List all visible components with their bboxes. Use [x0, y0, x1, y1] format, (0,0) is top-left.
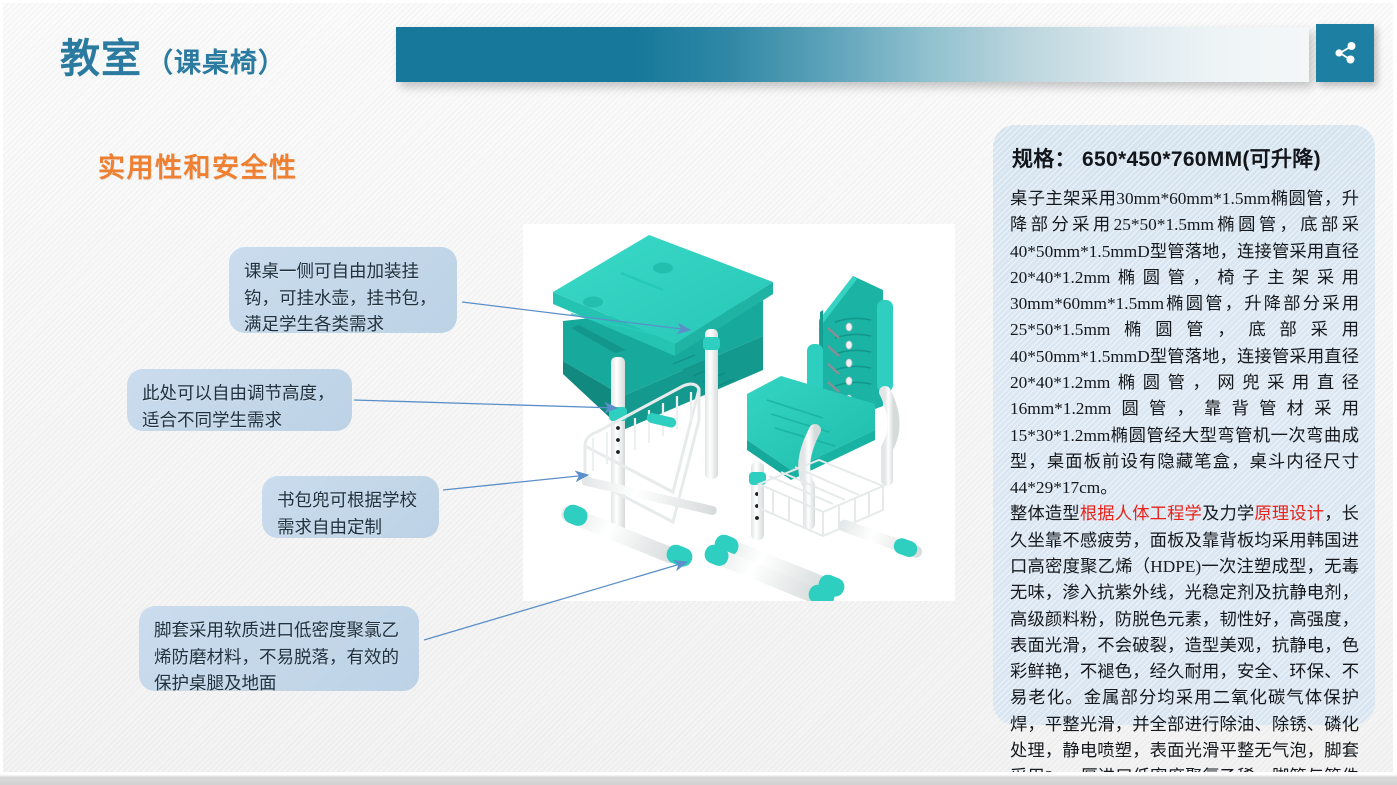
share-network-icon [1330, 38, 1360, 68]
callout-hook: 课桌一侧可自由加装挂钩，可挂水壶，挂书包，满足学生各类需求 [229, 247, 457, 333]
page-title-sub: （课桌椅） [146, 48, 286, 78]
spec-p2-lead: 整体造型 [1010, 504, 1080, 523]
slide-canvas: 教室（课桌椅） 实用性和安全性 [0, 0, 1397, 785]
desk-and-chair-illustration [523, 224, 955, 601]
slide-edge-bottom [0, 772, 1397, 785]
page-title: 教室（课桌椅） [60, 26, 286, 84]
spec-panel: 规格： 650*450*760MM(可升降) 桌子主架采用30mm*60mm*1… [993, 125, 1375, 725]
callout-foot: 脚套采用软质进口低密度聚氯乙烯防磨材料，不易脱落，有效的保护桌腿及地面 [139, 606, 419, 691]
spec-p2-highlight-1: 根据人体工程学 [1080, 504, 1202, 523]
spec-title: 规格： 650*450*760MM(可升降) [1012, 143, 1359, 173]
spec-p2-highlight-2: 原理设计 [1254, 504, 1324, 523]
spec-p2-mid: 及力学 [1202, 504, 1254, 523]
spec-p2-tail: ，长久坐靠不感疲劳，面板及靠背板均采用韩国进口高密度聚乙烯（HDPE)一次注塑成… [1010, 504, 1359, 785]
spec-paragraph-2: 整体造型根据人体工程学及力学原理设计，长久坐靠不感疲劳，面板及靠背板均采用韩国进… [1010, 501, 1359, 785]
slide-edge-top [0, 0, 1397, 3]
callout-height: 此处可以自由调节高度，适合不同学生需求 [127, 369, 352, 431]
slide-edge-left [0, 0, 3, 785]
product-image [523, 224, 955, 601]
section-heading: 实用性和安全性 [98, 146, 298, 185]
share-button[interactable] [1316, 24, 1374, 82]
slide-edge-right [1393, 0, 1397, 785]
callout-basket: 书包兜可根据学校需求自由定制 [262, 476, 439, 538]
spec-paragraph-1: 桌子主架采用30mm*60mm*1.5mm椭圆管，升降部分采用25*50*1.5… [1010, 186, 1359, 501]
page-title-main: 教室 [60, 36, 142, 81]
header-gradient-bar [396, 27, 1309, 82]
